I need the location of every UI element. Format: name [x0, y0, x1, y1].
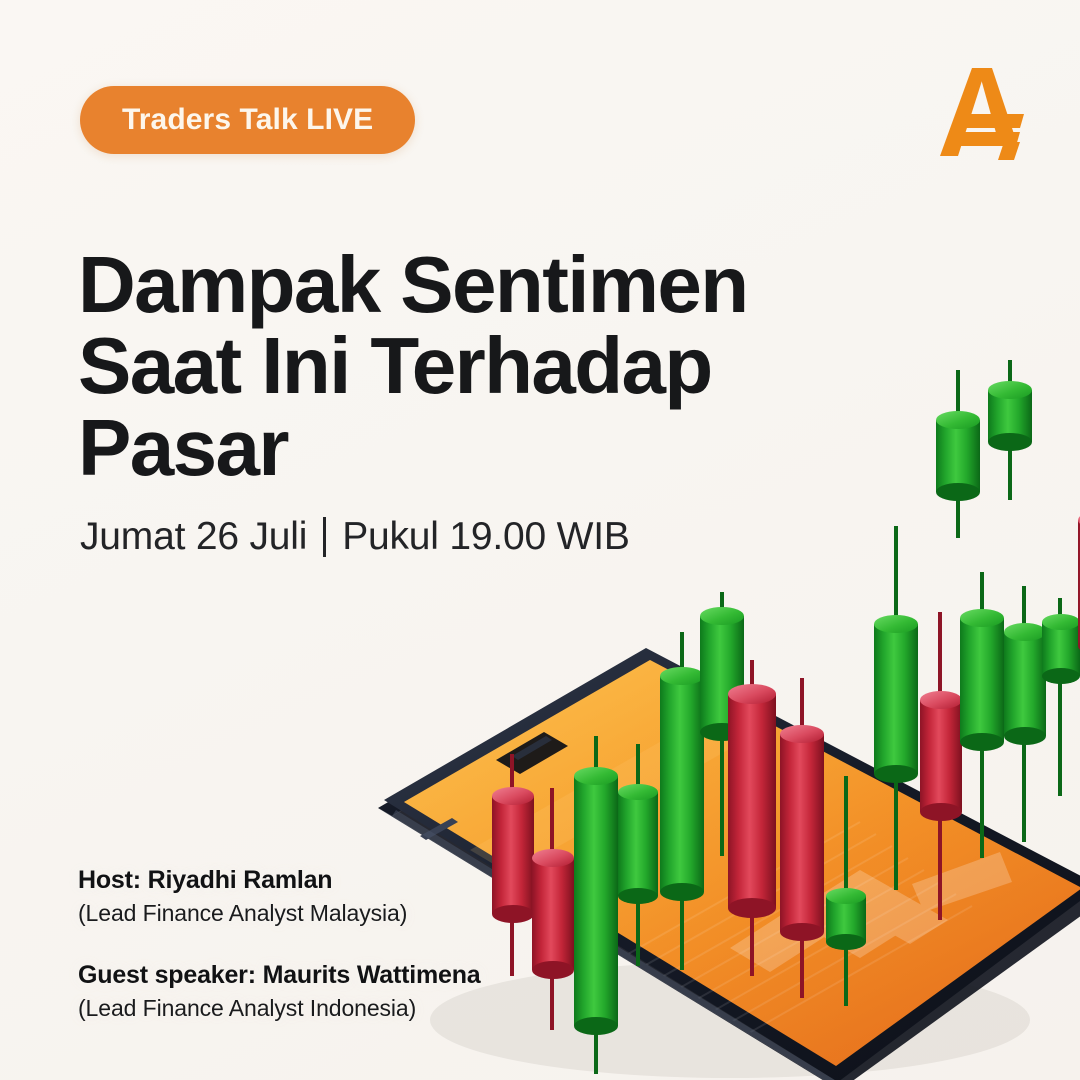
brand-logo	[928, 58, 1038, 166]
live-badge: Traders Talk LIVE	[80, 86, 415, 154]
credit-guest: Guest speaker: Maurits Wattimena (Lead F…	[78, 961, 481, 1022]
octa-a-monogram-icon	[928, 58, 1038, 166]
credit-guest-role: (Lead Finance Analyst Indonesia)	[78, 995, 481, 1022]
candle-bullish	[960, 572, 1004, 858]
live-badge-label: Traders Talk LIVE	[122, 103, 373, 137]
credit-host-name: Host: Riyadhi Ramlan	[78, 866, 481, 895]
candle-bearish	[920, 612, 962, 920]
poster-canvas: Traders Talk LIVE Dampak Sentimen Saat I…	[0, 0, 1080, 1080]
candle-bullish	[1004, 586, 1046, 842]
page-title: Dampak Sentimen Saat Ini Terhadap Pasar	[78, 244, 838, 489]
candle-bullish	[988, 360, 1032, 500]
candle-bullish	[660, 632, 704, 970]
credit-host: Host: Riyadhi Ramlan (Lead Finance Analy…	[78, 866, 481, 927]
candlestick-peak-cluster	[880, 360, 1080, 640]
headline-line-3: Pasar	[78, 407, 838, 489]
candle-bearish	[492, 754, 534, 976]
candle-bullish	[700, 592, 744, 856]
schedule-separator	[323, 517, 326, 557]
event-schedule: Jumat 26 Juli Pukul 19.00 WIB	[80, 515, 630, 559]
candle-bearish	[728, 660, 776, 976]
candle-bullish	[826, 776, 866, 1006]
candle-bullish	[1042, 598, 1080, 796]
headline-line-1: Dampak Sentimen	[78, 244, 838, 326]
candle-bullish	[574, 736, 618, 1074]
event-date: Jumat 26 Juli	[80, 515, 307, 559]
credit-host-role: (Lead Finance Analyst Malaysia)	[78, 900, 481, 927]
candle-bearish	[780, 678, 824, 998]
candle-bullish	[618, 744, 658, 966]
credit-guest-name: Guest speaker: Maurits Wattimena	[78, 961, 481, 990]
event-time: Pukul 19.00 WIB	[342, 515, 629, 559]
candle-bullish	[874, 526, 918, 890]
speaker-credits: Host: Riyadhi Ramlan (Lead Finance Analy…	[78, 866, 481, 1022]
smartphone-mockup	[378, 648, 1080, 1080]
candle-bullish	[936, 370, 980, 538]
headline-line-2: Saat Ini Terhadap	[78, 325, 838, 407]
candle-bearish	[532, 788, 574, 1030]
